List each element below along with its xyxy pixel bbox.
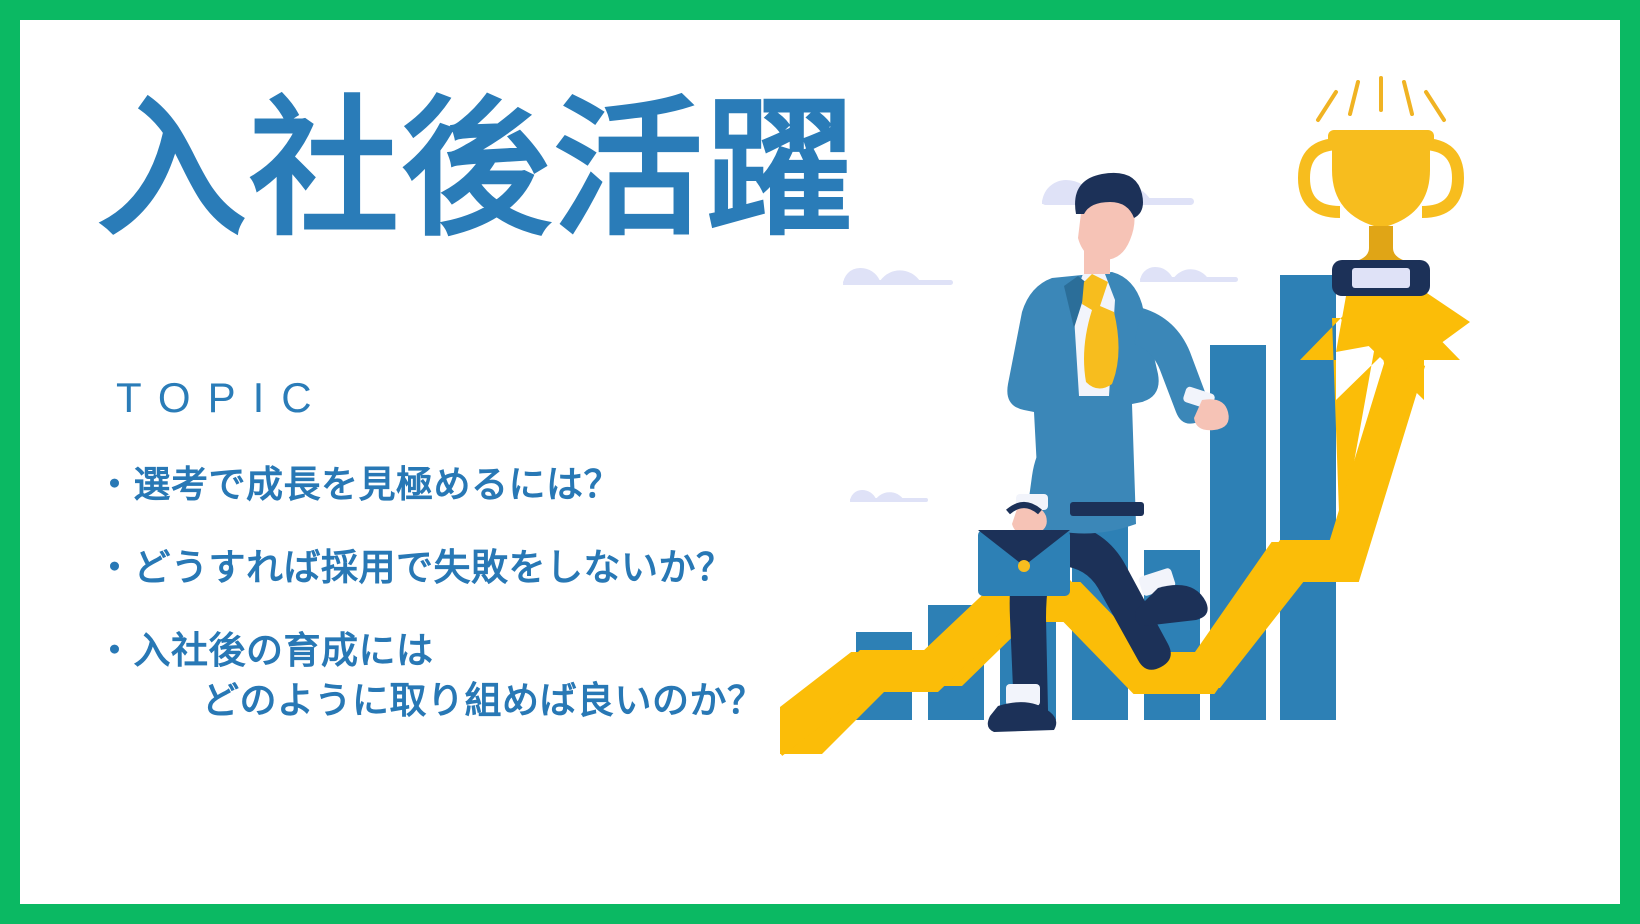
cloud-icon <box>839 490 928 502</box>
list-item: ・入社後の育成には どのように取り組めば良いのか？ <box>96 626 856 724</box>
topic-heading: TOPIC <box>116 374 329 422</box>
trophy-icon <box>1304 78 1458 296</box>
list-item: ・選考で成長を見極めるには？ <box>96 460 856 509</box>
cloud-icon <box>1126 267 1238 282</box>
border-bottom <box>0 904 1640 924</box>
page-title: 入社後活躍 <box>97 85 857 253</box>
list-item-text: ・どうすれば採用で失敗をしないか？ <box>96 547 734 588</box>
border-left <box>0 0 20 924</box>
cloud-icon <box>827 268 953 285</box>
growth-illustration <box>780 60 1620 760</box>
list-item-continuation: どのように取り組めば良いのか？ <box>96 676 856 725</box>
list-item: ・どうすれば採用で失敗をしないか？ <box>96 543 856 592</box>
border-top <box>0 0 1640 20</box>
topic-list: ・選考で成長を見極めるには？ ・どうすれば採用で失敗をしないか？ ・入社後の育成… <box>96 460 856 759</box>
slide-canvas: 入社後活躍 TOPIC ・選考で成長を見極めるには？ ・どうすれば採用で失敗をし… <box>0 0 1640 924</box>
list-item-text: ・選考で成長を見極めるには？ <box>96 464 621 505</box>
list-item-text: ・入社後の育成には <box>96 630 434 671</box>
border-right <box>1620 0 1640 924</box>
